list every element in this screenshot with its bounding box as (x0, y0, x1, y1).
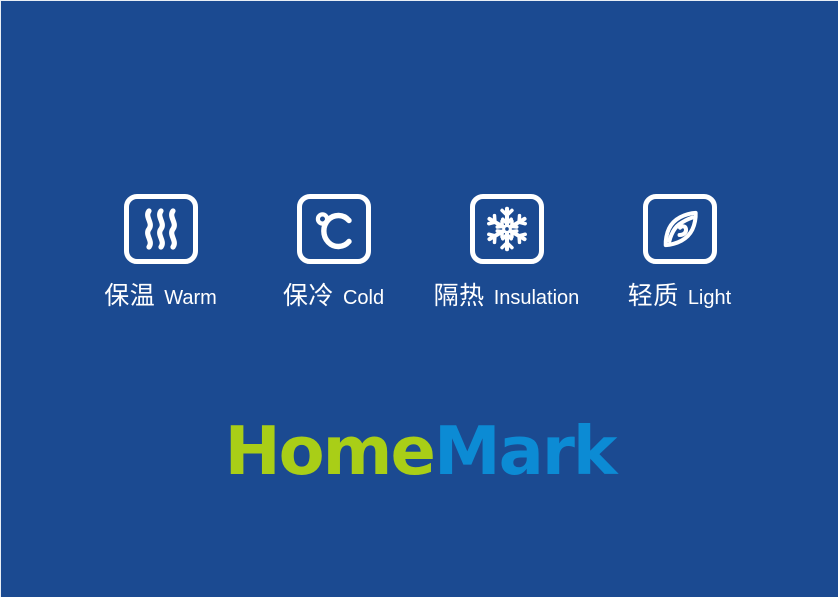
feather-leaf-icon (657, 206, 703, 252)
feature-label-en: Insulation (494, 288, 580, 308)
feature-item-light[interactable]: 轻质 Light (593, 194, 766, 309)
feature-item-insulation[interactable]: 隔热 Insulation (420, 194, 593, 309)
feature-label-insulation: 隔热 Insulation (434, 284, 580, 309)
heat-waves-icon (141, 207, 181, 251)
feature-label-en: Cold (343, 288, 384, 308)
snowflake-icon (484, 206, 530, 252)
brand-logo-mark: Mark (434, 412, 615, 490)
brand-logo: HomeMark (1, 418, 838, 485)
feature-label-cold: 保冷 Cold (283, 284, 384, 309)
product-feature-banner: 保温 Warm 保冷 Cold (0, 0, 838, 597)
icon-frame-insulation (470, 194, 544, 264)
feature-item-warm[interactable]: 保温 Warm (74, 194, 247, 309)
feature-label-cn: 保冷 (283, 284, 334, 309)
brand-logo-home: Home (225, 412, 434, 490)
feature-label-en: Light (688, 288, 731, 308)
feature-label-cn: 保温 (104, 284, 155, 309)
feature-item-cold[interactable]: 保冷 Cold (247, 194, 420, 309)
feature-label-light: 轻质 Light (628, 284, 731, 309)
icon-frame-cold (297, 194, 371, 264)
feature-label-cn: 隔热 (434, 284, 485, 309)
celsius-degree-icon (312, 207, 356, 251)
feature-label-en: Warm (164, 288, 217, 308)
icon-frame-light (643, 194, 717, 264)
icon-frame-warm (124, 194, 198, 264)
feature-icon-row: 保温 Warm 保冷 Cold (1, 194, 838, 309)
feature-label-cn: 轻质 (628, 284, 679, 309)
feature-label-warm: 保温 Warm (104, 284, 217, 309)
